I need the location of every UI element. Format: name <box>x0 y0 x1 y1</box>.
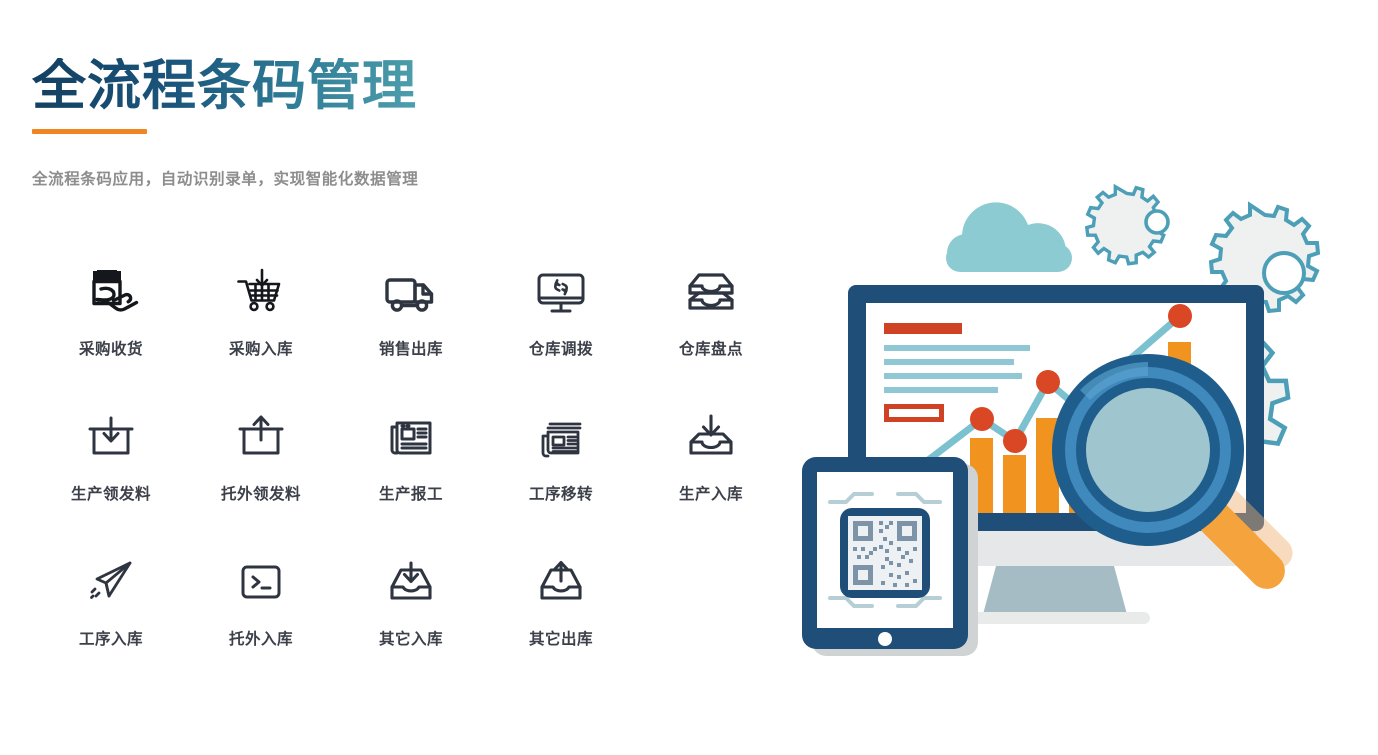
paper-plane-icon <box>83 552 139 614</box>
feature-item-warehouse-stocktake[interactable]: 仓库盘点 <box>636 262 786 407</box>
feature-label: 采购收货 <box>79 337 143 359</box>
feature-item-production-inbound[interactable]: 生产入库 <box>636 407 786 552</box>
page-root: 全流程条码管理 全流程条码应用，自动识别录单，实现智能化数据管理 <box>0 0 1378 755</box>
feature-item-outsourcing-inbound[interactable]: 托外入库 <box>186 552 336 697</box>
stacked-trays-icon <box>683 262 739 324</box>
hand-holding-box-icon <box>83 262 139 324</box>
feature-item-other-outbound[interactable]: 其它出库 <box>486 552 636 697</box>
feature-label: 生产入库 <box>679 482 743 504</box>
feature-item-empty <box>636 552 786 697</box>
feature-item-sales-outbound[interactable]: 销售出库 <box>336 262 486 407</box>
feature-label: 其它入库 <box>379 627 443 649</box>
feature-label: 生产报工 <box>379 482 443 504</box>
feature-row: 生产领发料 托外领发料 <box>36 407 796 552</box>
header-block: 全流程条码管理 全流程条码应用，自动识别录单，实现智能化数据管理 <box>32 58 418 189</box>
feature-label: 采购入库 <box>229 337 293 359</box>
feature-item-production-issue[interactable]: 生产领发料 <box>36 407 186 552</box>
feature-item-other-inbound[interactable]: 其它入库 <box>336 552 486 697</box>
feature-label: 仓库调拨 <box>529 337 593 359</box>
stacked-documents-icon <box>533 407 589 469</box>
terminal-console-icon <box>233 552 289 614</box>
title-accent-bar <box>32 129 147 134</box>
newspaper-report-icon <box>383 407 439 469</box>
delivery-truck-icon <box>382 262 440 324</box>
gear-small-icon <box>1087 187 1168 264</box>
box-up-arrow-icon <box>233 407 289 469</box>
feature-label: 销售出库 <box>379 337 443 359</box>
qr-code-icon <box>840 508 930 598</box>
feature-label: 工序移转 <box>529 482 593 504</box>
feature-item-process-inbound[interactable]: 工序入库 <box>36 552 186 697</box>
feature-item-purchase-inbound[interactable]: 采购入库 <box>186 262 336 407</box>
feature-item-process-transfer[interactable]: 工序移转 <box>486 407 636 552</box>
inbox-down-arrow-icon <box>683 407 739 469</box>
feature-label: 仓库盘点 <box>679 337 743 359</box>
feature-label: 其它出库 <box>529 627 593 649</box>
box-down-arrow-icon <box>83 407 139 469</box>
feature-label: 工序入库 <box>79 627 143 649</box>
hero-illustration <box>790 150 1378 680</box>
shopping-cart-down-arrow-icon <box>233 262 289 324</box>
page-subtitle: 全流程条码应用，自动识别录单，实现智能化数据管理 <box>32 167 418 189</box>
cloud-icon <box>946 202 1072 272</box>
feature-item-warehouse-transfer[interactable]: 仓库调拨 <box>486 262 636 407</box>
monitor-refresh-icon <box>533 262 589 324</box>
tray-down-arrow-icon <box>383 552 439 614</box>
tray-up-arrow-icon <box>533 552 589 614</box>
feature-label: 托外领发料 <box>221 482 301 504</box>
feature-label: 托外入库 <box>229 627 293 649</box>
feature-icon-grid: 采购收货 采 <box>36 262 796 697</box>
feature-item-outsourcing-issue[interactable]: 托外领发料 <box>186 407 336 552</box>
feature-row: 采购收货 采 <box>36 262 796 407</box>
feature-row: 工序入库 托外入库 <box>36 552 796 697</box>
page-title: 全流程条码管理 <box>32 58 418 115</box>
feature-item-purchase-receipt[interactable]: 采购收货 <box>36 262 186 407</box>
feature-item-production-report[interactable]: 生产报工 <box>336 407 486 552</box>
feature-label: 生产领发料 <box>71 482 151 504</box>
